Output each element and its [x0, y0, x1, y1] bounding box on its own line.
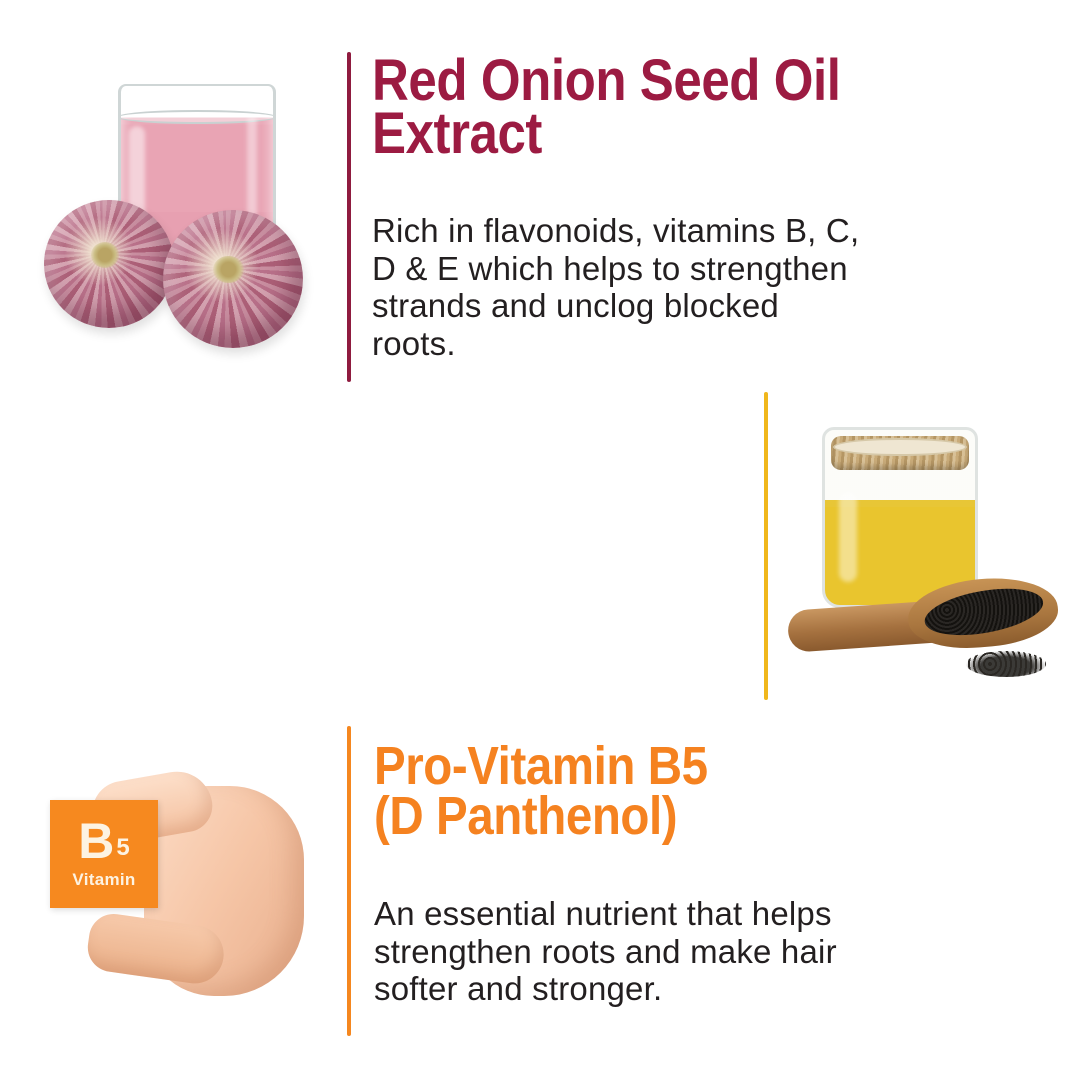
jar-cork-lid: [831, 436, 969, 470]
section-heading-pro-vitamin-b5: Pro-Vitamin B5 (D Panthenol): [374, 742, 990, 841]
section-divider-red-onion: [347, 52, 351, 382]
hand-holding-vitamin-b5-card-image: B 5 Vitamin: [38, 736, 338, 1036]
b5-letter-group: B 5: [78, 819, 129, 864]
red-onions-and-juice-glass-image: [8, 52, 338, 382]
section-body-red-onion: Rich in flavonoids, vitamins B, C, D & E…: [372, 212, 1012, 362]
vitamin-b5-card: B 5 Vitamin: [50, 800, 158, 908]
section-divider-black-seed-oil: [764, 392, 768, 700]
wooden-spoon: [788, 573, 1058, 655]
jar-highlight: [839, 492, 857, 582]
red-onion-left: [44, 200, 174, 328]
b5-vitamin-label: Vitamin: [72, 870, 135, 890]
onion-root-core: [213, 256, 244, 284]
section-body-pro-vitamin-b5: An essential nutrient that helps strengt…: [374, 895, 1034, 1008]
black-seed-oil-jar-and-spoon-image: [780, 405, 1072, 690]
b5-letter: B: [78, 819, 114, 864]
onion-scene: [8, 52, 338, 382]
section-heading-red-onion: Red Onion Seed Oil Extract: [372, 54, 988, 161]
onion-root-core: [91, 242, 120, 268]
spoon-bowl: [905, 573, 1060, 654]
red-onion-right: [163, 210, 303, 348]
black-cumin-seeds-in-spoon: [921, 581, 1046, 643]
jar-lid-rim: [833, 438, 967, 456]
section-divider-pro-vitamin-b5: [347, 726, 351, 1036]
black-cumin-seeds-pile: [966, 651, 1046, 677]
b5-subscript: 5: [116, 836, 129, 860]
infographic-page: Red Onion Seed Oil Extract Rich in flavo…: [0, 0, 1080, 1080]
